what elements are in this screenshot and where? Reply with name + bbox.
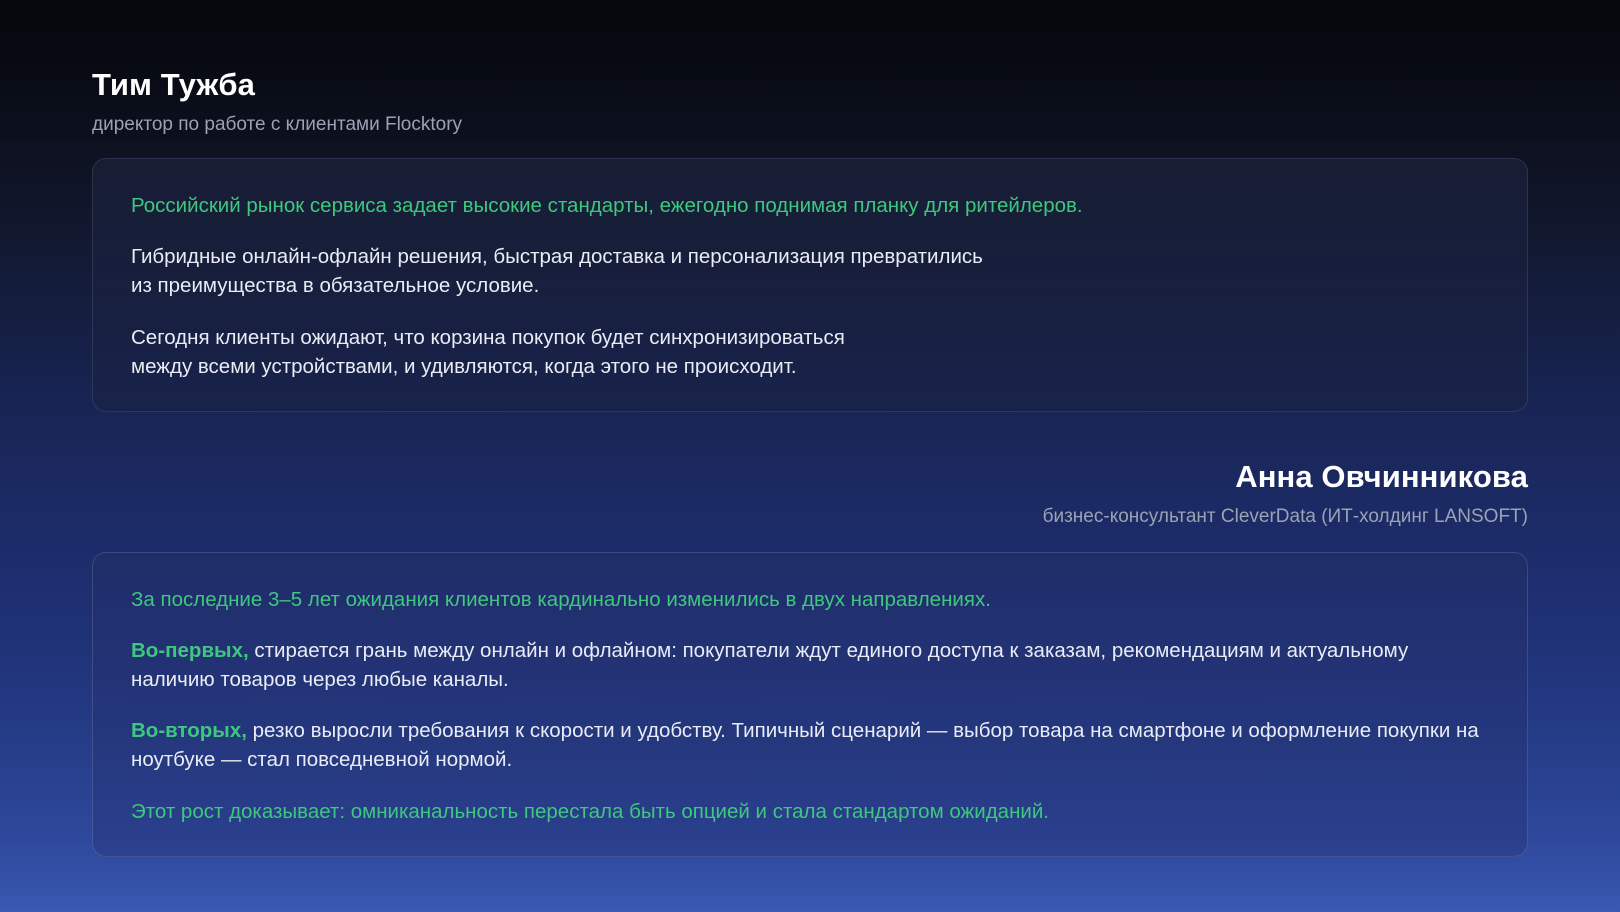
- quote-card-2: За последние 3–5 лет ожидания клиентов к…: [92, 552, 1528, 857]
- speaker-role-1: директор по работе с клиентами Flocktory: [92, 111, 1528, 140]
- quote-lead-1: Российский рынок сервиса задает высокие …: [131, 191, 1489, 220]
- quote-point-two: Во-вторых, резко выросли требования к ск…: [131, 716, 1489, 774]
- speaker-block-1: Тим Тужба директор по работе с клиентами…: [92, 0, 1528, 139]
- quote-point-one: Во-первых, стирается грань между онлайн …: [131, 636, 1489, 694]
- quote-card-1: Российский рынок сервиса задает высокие …: [92, 158, 1528, 412]
- quote-paragraph-1-2: Сегодня клиенты ожидают, что корзина пок…: [131, 323, 1489, 381]
- quote-point-two-label: Во-вторых,: [131, 719, 247, 742]
- quote-point-one-text: стирается грань между онлайн и офлайном:…: [131, 639, 1408, 691]
- speaker-role-2: бизнес-консультант CleverData (ИТ-холдин…: [92, 503, 1528, 532]
- quote-point-two-text: резко выросли требования к скорости и уд…: [131, 719, 1479, 771]
- quote-lead-2: За последние 3–5 лет ожидания клиентов к…: [131, 585, 1489, 614]
- speaker-name-2: Анна Овчинникова: [92, 458, 1528, 497]
- quotes-page: Тим Тужба директор по работе с клиентами…: [0, 0, 1620, 912]
- speaker-block-2: Анна Овчинникова бизнес-консультант Clev…: [92, 412, 1528, 531]
- quote-conclusion: Этот рост доказывает: омниканальность пе…: [131, 797, 1489, 826]
- quote-paragraph-1-1: Гибридные онлайн-офлайн решения, быстрая…: [131, 242, 1489, 300]
- quote-point-one-label: Во-первых,: [131, 639, 249, 662]
- speaker-name-1: Тим Тужба: [92, 66, 1528, 105]
